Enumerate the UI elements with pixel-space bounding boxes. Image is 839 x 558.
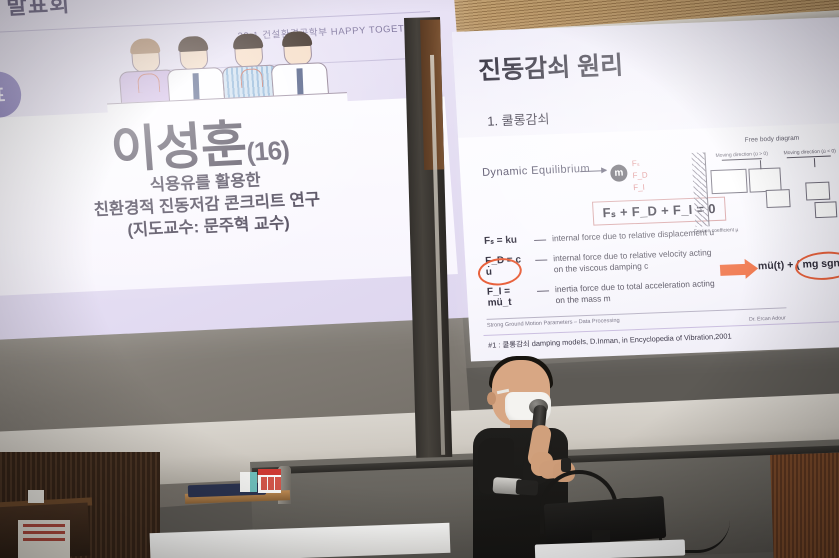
teal-white-box [240,472,257,492]
podium-small-box [28,490,44,503]
presentation-clicker [561,458,571,472]
slide-left-header: 발표회 [5,0,71,21]
projection-screen-right: 진동감쇠 원리 1. 쿨롱감쇠 Dynamic Equilibrium m Fₛ… [452,17,839,362]
slide-left-tab-label: 발표 [0,81,6,108]
wood-panel-right [770,451,839,558]
person-head [233,36,263,68]
slide-right-glare [452,17,839,362]
person-head [131,41,161,73]
red-display-card [258,469,281,493]
person-head [282,34,312,66]
gooseneck-mic-joint [516,479,539,495]
wall-sign [18,520,70,558]
person-head [179,39,209,71]
slide-left-cohort: (16) [245,135,289,167]
lectern-desk [150,523,451,558]
presenter-ear [487,392,496,405]
lecture-hall-photo: 발표회 22-1 건설환경공학부 HAPPY TOGETHER [0,0,839,558]
